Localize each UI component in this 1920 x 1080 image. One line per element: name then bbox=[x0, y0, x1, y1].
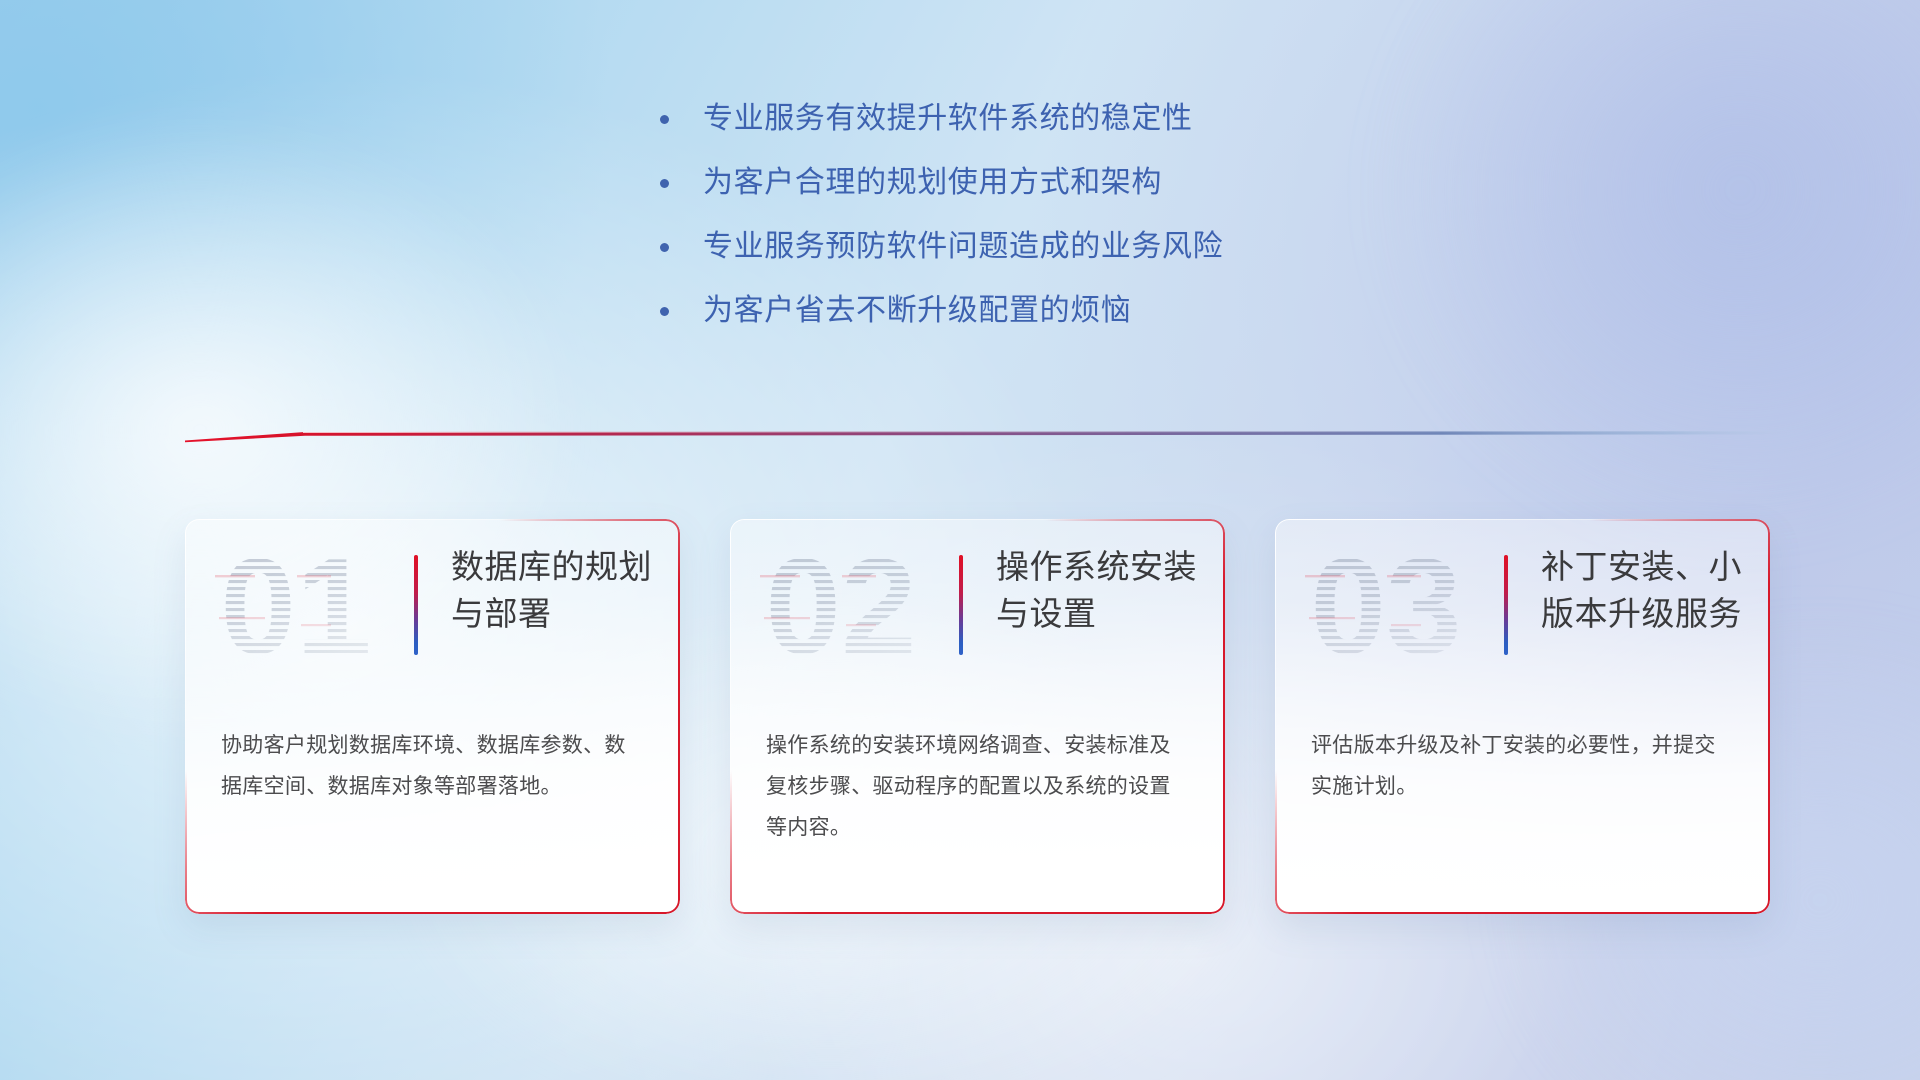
card-number-text: 03 bbox=[1310, 531, 1461, 681]
card-title: 补丁安装、小版本升级服务 bbox=[1541, 543, 1756, 637]
card-description: 操作系统的安装环境网络调查、安装标准及复核步骤、驱动程序的配置以及系统的设置等内… bbox=[766, 725, 1186, 848]
service-card[interactable]: 01 数据库的规划与部署 协助客户规划数据库环境、数据库参数、数据库空间、数据库… bbox=[185, 519, 680, 914]
card-number-text: 02 bbox=[765, 531, 916, 681]
card-description: 协助客户规划数据库环境、数据库参数、数据库空间、数据库对象等部署落地。 bbox=[221, 725, 641, 807]
list-item: 为客户省去不断升级配置的烦恼 bbox=[660, 290, 1560, 354]
bullet-label: 为客户省去不断升级配置的烦恼 bbox=[703, 290, 1131, 332]
card-description: 评估版本升级及补丁安装的必要性，并提交实施计划。 bbox=[1311, 725, 1731, 807]
card-accent-bar bbox=[959, 555, 963, 655]
card-accent-bar bbox=[414, 555, 418, 655]
bullet-label: 专业服务有效提升软件系统的稳定性 bbox=[703, 98, 1193, 140]
slide-canvas: 专业服务有效提升软件系统的稳定性 为客户合理的规划使用方式和架构 专业服务预防软… bbox=[0, 0, 1920, 1080]
card-number-watermark: 03 bbox=[1291, 531, 1481, 681]
bullet-dot-icon bbox=[660, 115, 669, 124]
card-header: 01 数据库的规划与部署 bbox=[185, 519, 680, 697]
card-header: 03 补丁安装、小版本升级服务 bbox=[1275, 519, 1770, 697]
service-card[interactable]: 03 补丁安装、小版本升级服务 评估版本升级及补丁安装的必要性，并提交实施计划。 bbox=[1275, 519, 1770, 914]
service-card-row: 01 数据库的规划与部署 协助客户规划数据库环境、数据库参数、数据库空间、数据库… bbox=[185, 519, 1770, 914]
list-item: 专业服务预防软件问题造成的业务风险 bbox=[660, 226, 1560, 290]
card-number-text: 01 bbox=[220, 531, 371, 681]
card-title: 数据库的规划与部署 bbox=[451, 543, 666, 637]
card-header: 02 操作系统安装与设置 bbox=[730, 519, 1225, 697]
card-number-watermark: 01 bbox=[201, 531, 391, 681]
bullet-dot-icon bbox=[660, 243, 669, 252]
list-item: 专业服务有效提升软件系统的稳定性 bbox=[660, 98, 1560, 162]
bullet-label: 为客户合理的规划使用方式和架构 bbox=[703, 162, 1162, 204]
section-divider bbox=[185, 424, 1797, 446]
card-title: 操作系统安装与设置 bbox=[996, 543, 1211, 637]
benefits-bullet-list: 专业服务有效提升软件系统的稳定性 为客户合理的规划使用方式和架构 专业服务预防软… bbox=[660, 98, 1560, 354]
service-card[interactable]: 02 操作系统安装与设置 操作系统的安装环境网络调查、安装标准及复核步骤、驱动程… bbox=[730, 519, 1225, 914]
card-accent-bar bbox=[1504, 555, 1508, 655]
bullet-label: 专业服务预防软件问题造成的业务风险 bbox=[703, 226, 1223, 268]
bullet-dot-icon bbox=[660, 179, 669, 188]
list-item: 为客户合理的规划使用方式和架构 bbox=[660, 162, 1560, 226]
card-number-watermark: 02 bbox=[746, 531, 936, 681]
bullet-dot-icon bbox=[660, 307, 669, 316]
